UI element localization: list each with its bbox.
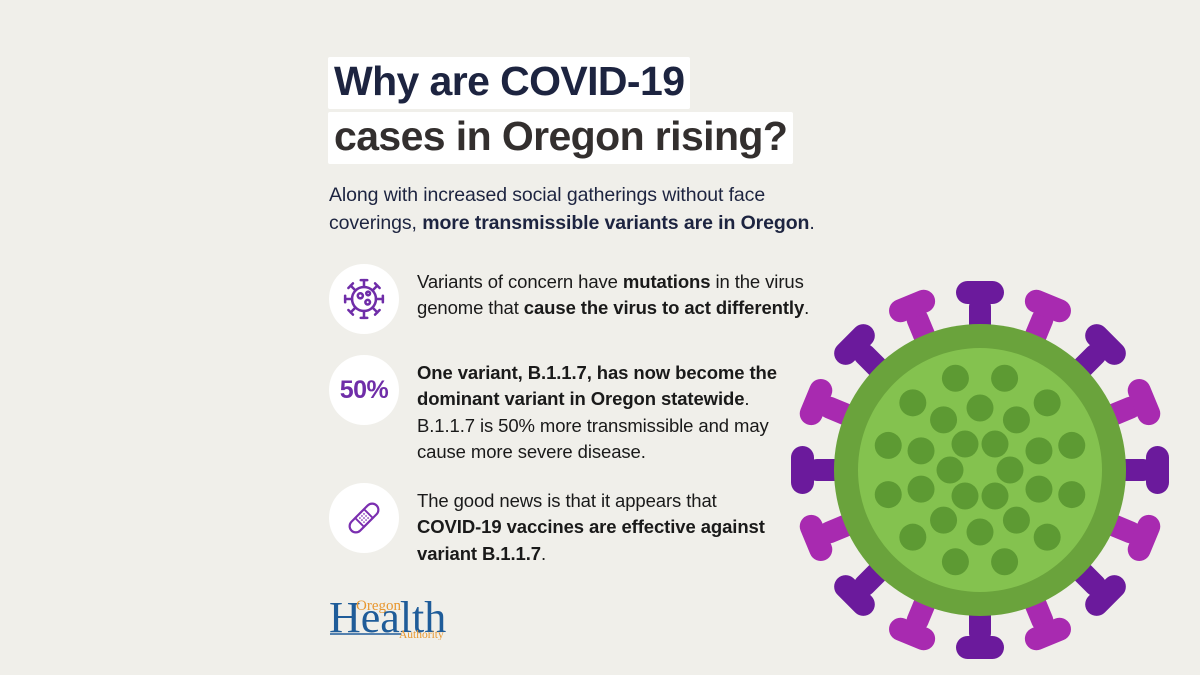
virus-inner-body — [858, 348, 1102, 592]
infographic-canvas: Why are COVID-19 cases in Oregon rising?… — [0, 0, 1200, 675]
text-segment: Variants of concern have — [417, 271, 623, 292]
bandage-icon-badge — [329, 483, 399, 553]
text-segment-bold: cause the virus to act differently — [524, 297, 804, 318]
virus-dot — [875, 481, 902, 508]
virus-dot — [930, 406, 957, 433]
subtitle-plain-2: . — [809, 212, 814, 234]
virus-dot — [1034, 389, 1061, 416]
title-line-1: Why are COVID-19 — [328, 57, 690, 109]
virus-dot — [991, 365, 1018, 392]
list-item-text: One variant, B.1.1.7, has now become the… — [417, 355, 799, 465]
virus-dot — [1025, 476, 1052, 503]
virus-dot — [908, 476, 935, 503]
virus-dot — [899, 524, 926, 551]
subtitle: Along with increased social gatherings w… — [329, 181, 829, 238]
virus-dot — [930, 507, 957, 534]
virus-dot — [1058, 432, 1085, 459]
coronavirus-graphic — [780, 262, 1190, 672]
virus-dot — [997, 457, 1024, 484]
list-item: The good news is that it appears that CO… — [329, 483, 769, 567]
list-item-text: The good news is that it appears that CO… — [417, 483, 769, 567]
virus-dot — [937, 457, 964, 484]
page-title: Why are COVID-19 cases in Oregon rising? — [328, 57, 793, 164]
virus-dot — [942, 548, 969, 575]
virus-dot — [875, 432, 902, 459]
logo-authority-text: Authority — [399, 629, 444, 640]
logo-oregon-text: Oregon — [356, 598, 401, 614]
bandage-icon — [340, 494, 388, 542]
virus-dot — [1034, 524, 1061, 551]
virus-dot — [967, 519, 994, 546]
virus-dot — [1058, 481, 1085, 508]
virus-dot — [1003, 507, 1030, 534]
oregon-health-authority-logo: Health Oregon Authority — [329, 592, 459, 640]
virus-dot — [982, 431, 1009, 458]
subtitle-bold-1: more transmissible variants are in Orego… — [422, 212, 809, 234]
virus-dot — [908, 437, 935, 464]
title-line-2: cases in Oregon rising? — [328, 112, 793, 164]
virus-icon-badge — [329, 264, 399, 334]
virus-dot — [942, 365, 969, 392]
list-item: 50% One variant, B.1.1.7, has now become… — [329, 355, 799, 465]
text-segment-bold: COVID-19 vaccines are effective against … — [417, 516, 765, 563]
logo-artwork: Health Oregon Authority — [329, 592, 459, 640]
text-segment-bold: mutations — [623, 271, 711, 292]
virus-dot — [952, 482, 979, 509]
text-segment: The good news is that it appears that — [417, 490, 717, 511]
virus-dot — [991, 548, 1018, 575]
virus-dot — [1025, 437, 1052, 464]
coronavirus-illustration — [780, 262, 1190, 672]
virus-dot — [982, 482, 1009, 509]
virus-dot — [967, 395, 994, 422]
virus-icon — [341, 276, 387, 322]
virus-dot — [952, 431, 979, 458]
virus-dot — [899, 389, 926, 416]
virus-dot — [1003, 406, 1030, 433]
percent-badge-label: 50% — [340, 376, 389, 405]
text-segment-bold: One variant, B.1.1.7, has now become the… — [417, 362, 777, 409]
percent-badge: 50% — [329, 355, 399, 425]
text-segment: . — [541, 543, 546, 564]
